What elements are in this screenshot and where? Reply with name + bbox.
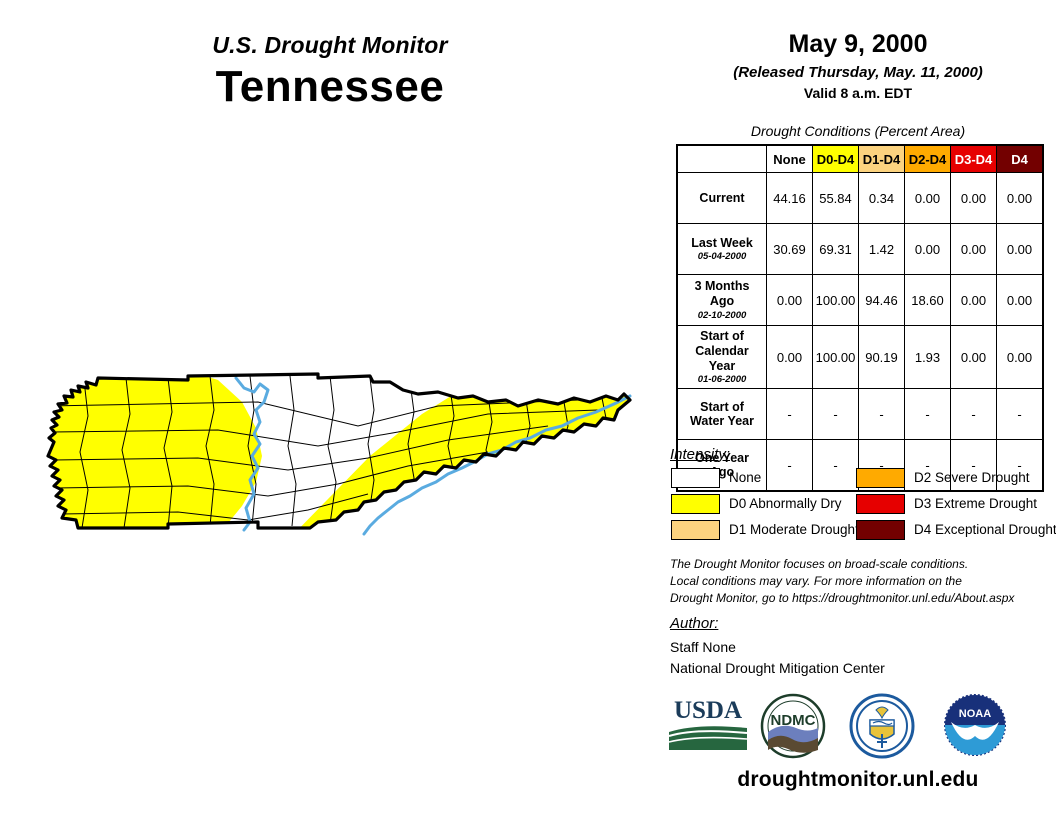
cell-lastweek-d2d4: 0.00 — [905, 224, 951, 275]
legend-item-d2: D2 Severe Drought — [856, 468, 1056, 487]
cell-lastweek-d4: 0.00 — [997, 224, 1044, 275]
legend-swatch-none — [671, 468, 720, 488]
cell-calyear-d3d4: 0.00 — [951, 326, 997, 389]
cell-calyear-d0d4: 100.00 — [813, 326, 859, 389]
website-url: droughtmonitor.unl.edu — [660, 768, 1056, 792]
cell-current-d0d4: 55.84 — [813, 173, 859, 224]
cell-wateryear-d2d4: - — [905, 389, 951, 440]
table-row: Current 44.16 55.84 0.34 0.00 0.00 0.00 — [677, 173, 1043, 224]
disclaimer-line-1: The Drought Monitor focuses on broad-sca… — [670, 556, 1056, 573]
noaa-logo: NOAA — [939, 692, 1011, 758]
state-title: Tennessee — [0, 62, 660, 112]
row-label-date: 02-10-2000 — [682, 310, 762, 321]
cell-wateryear-d0d4: - — [813, 389, 859, 440]
row-label-text: Start ofCalendar Year — [695, 329, 749, 373]
table-row: Last Week 05-04-2000 30.69 69.31 1.42 0.… — [677, 224, 1043, 275]
row-label-3-months-ago: 3 Months Ago 02-10-2000 — [677, 275, 767, 326]
usda-logo-text: USDA — [674, 697, 742, 724]
row-label-text: 3 Months Ago — [695, 279, 750, 308]
row-label-text: Current — [699, 191, 744, 205]
cell-wateryear-d1d4: - — [859, 389, 905, 440]
author-name: Staff None — [670, 637, 885, 658]
program-title: U.S. Drought Monitor — [0, 32, 660, 59]
cell-wateryear-d3d4: - — [951, 389, 997, 440]
table-row: 3 Months Ago 02-10-2000 0.00 100.00 94.4… — [677, 275, 1043, 326]
cell-calyear-d2d4: 1.93 — [905, 326, 951, 389]
row-label-date: 05-04-2000 — [682, 251, 762, 262]
ndmc-logo: NDMC — [756, 692, 830, 760]
legend-swatch-d3 — [856, 494, 905, 514]
intensity-legend-heading: Intensity: — [670, 446, 730, 463]
table-header-row: None D0-D4 D1-D4 D2-D4 D3-D4 D4 — [677, 145, 1043, 173]
cell-calyear-d4: 0.00 — [997, 326, 1044, 389]
author-organization: National Drought Mitigation Center — [670, 658, 885, 679]
cell-calyear-d1d4: 90.19 — [859, 326, 905, 389]
cell-wateryear-d4: - — [997, 389, 1044, 440]
tennessee-drought-map — [18, 370, 648, 550]
cell-lastweek-d3d4: 0.00 — [951, 224, 997, 275]
row-label-start-of-calendar-year: Start ofCalendar Year 01-06-2000 — [677, 326, 767, 389]
cell-current-d3d4: 0.00 — [951, 173, 997, 224]
cell-3months-d3d4: 0.00 — [951, 275, 997, 326]
usda-logo: USDA — [667, 692, 749, 754]
legend-label-d4: D4 Exceptional Drought — [914, 522, 1056, 537]
column-header-d2-d4: D2-D4 — [905, 145, 951, 173]
legend-item-d1: D1 Moderate Drought — [671, 520, 851, 539]
legend-label-d0: D0 Abnormally Dry — [729, 496, 842, 511]
row-label-last-week: Last Week 05-04-2000 — [677, 224, 767, 275]
legend-label-d3: D3 Extreme Drought — [914, 496, 1037, 511]
legend-label-d1: D1 Moderate Drought — [729, 522, 859, 537]
legend-label-d2: D2 Severe Drought — [914, 470, 1030, 485]
cell-calyear-none: 0.00 — [767, 326, 813, 389]
table-caption: Drought Conditions (Percent Area) — [660, 123, 1056, 139]
legend-column-right: D2 Severe Drought D3 Extreme Drought D4 … — [856, 468, 1056, 546]
row-label-current: Current — [677, 173, 767, 224]
disclaimer-line-2: Local conditions may vary. For more info… — [670, 573, 1056, 590]
cell-current-d1d4: 0.34 — [859, 173, 905, 224]
cell-lastweek-d1d4: 1.42 — [859, 224, 905, 275]
legend-column-left: None D0 Abnormally Dry D1 Moderate Droug… — [671, 468, 851, 546]
cell-current-none: 44.16 — [767, 173, 813, 224]
map-area-d1-southeast — [416, 506, 490, 534]
cell-wateryear-none: - — [767, 389, 813, 440]
release-date: (Released Thursday, May. 11, 2000) — [660, 64, 1056, 81]
column-header-d4: D4 — [997, 145, 1044, 173]
row-label-text: Last Week — [691, 236, 753, 250]
disclaimer-text: The Drought Monitor focuses on broad-sca… — [670, 556, 1056, 607]
legend-label-none: None — [729, 470, 761, 485]
disclaimer-line-3: Drought Monitor, go to https://droughtmo… — [670, 590, 1056, 607]
cell-current-d2d4: 0.00 — [905, 173, 951, 224]
author-heading: Author: — [670, 615, 718, 632]
ndmc-logo-text: NDMC — [771, 712, 816, 729]
row-label-text: Start ofWater Year — [690, 400, 754, 429]
cell-3months-d4: 0.00 — [997, 275, 1044, 326]
cell-3months-d2d4: 18.60 — [905, 275, 951, 326]
cell-lastweek-d0d4: 69.31 — [813, 224, 859, 275]
us-department-of-commerce-seal — [846, 692, 918, 760]
column-header-none: None — [767, 145, 813, 173]
noaa-logo-text: NOAA — [959, 708, 991, 720]
logo-row: USDA NDMC — [660, 692, 1040, 762]
cell-lastweek-none: 30.69 — [767, 224, 813, 275]
legend-swatch-d2 — [856, 468, 905, 488]
cell-3months-none: 0.00 — [767, 275, 813, 326]
valid-time: Valid 8 a.m. EDT — [660, 85, 1056, 101]
legend-swatch-d1 — [671, 520, 720, 540]
column-header-d1-d4: D1-D4 — [859, 145, 905, 173]
header-corner-cell — [677, 145, 767, 173]
author-block: Staff None National Drought Mitigation C… — [670, 637, 885, 679]
drought-conditions-table: None D0-D4 D1-D4 D2-D4 D3-D4 D4 Current … — [676, 144, 1044, 492]
legend-item-d0: D0 Abnormally Dry — [671, 494, 851, 513]
legend-swatch-d0 — [671, 494, 720, 514]
legend-item-none: None — [671, 468, 851, 487]
column-header-d3-d4: D3-D4 — [951, 145, 997, 173]
legend-item-d4: D4 Exceptional Drought — [856, 520, 1056, 539]
row-label-start-of-water-year: Start ofWater Year — [677, 389, 767, 440]
map-area-d0-west — [18, 370, 262, 542]
cell-3months-d1d4: 94.46 — [859, 275, 905, 326]
cell-current-d4: 0.00 — [997, 173, 1044, 224]
legend-swatch-d4 — [856, 520, 905, 540]
table-row: Start ofWater Year - - - - - - — [677, 389, 1043, 440]
legend-item-d3: D3 Extreme Drought — [856, 494, 1056, 513]
issue-date: May 9, 2000 — [660, 30, 1056, 59]
column-header-d0-d4: D0-D4 — [813, 145, 859, 173]
cell-3months-d0d4: 100.00 — [813, 275, 859, 326]
table-row: Start ofCalendar Year 01-06-2000 0.00 10… — [677, 326, 1043, 389]
row-label-date: 01-06-2000 — [682, 374, 762, 385]
